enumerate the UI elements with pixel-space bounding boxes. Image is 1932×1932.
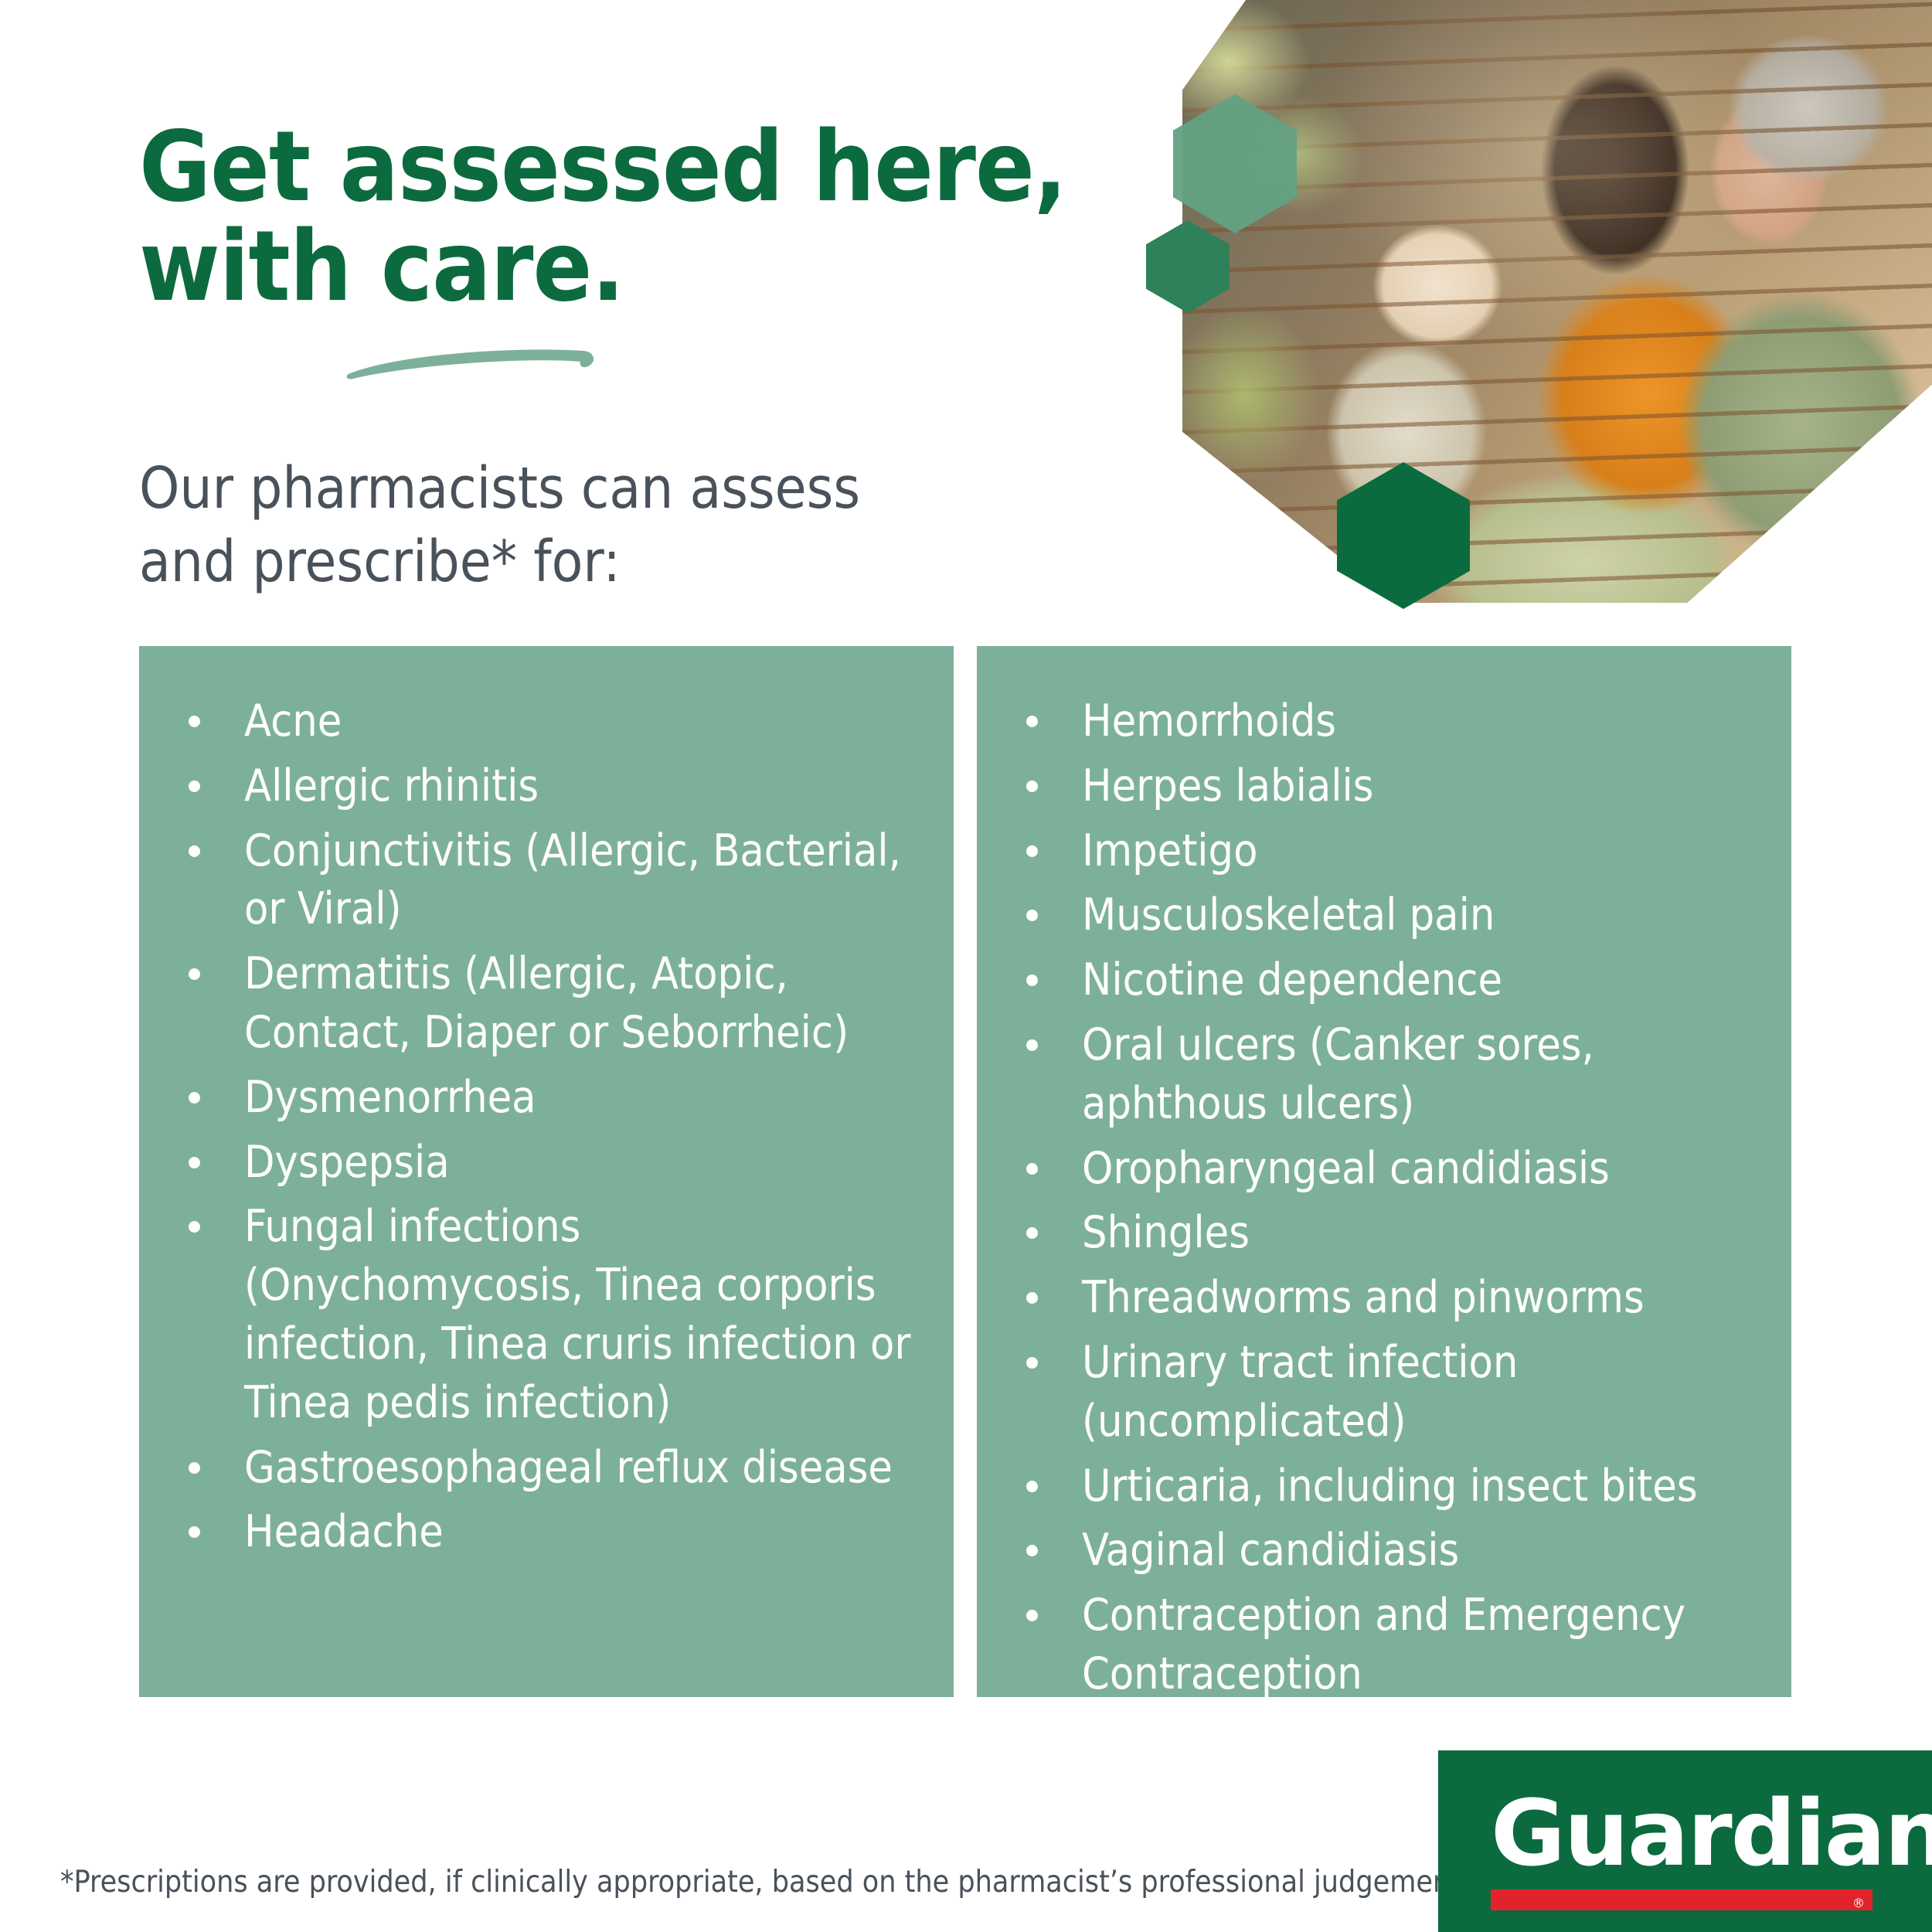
bullet-icon (189, 716, 200, 727)
list-item: Vaginal candidiasis (1015, 1522, 1760, 1580)
list-item: Oropharyngeal candidiasis (1015, 1140, 1760, 1199)
list-item: Shingles (1015, 1204, 1760, 1263)
list-item: Allergic rhinitis (178, 757, 923, 816)
list-item: Conjunctivitis (Allergic, Bacterial, or … (178, 822, 923, 940)
bullet-icon (1026, 1292, 1038, 1304)
condition-label: Urinary tract infection (uncomplicated) (1082, 1337, 1518, 1447)
footnote-text: *Prescriptions are provided, if clinical… (60, 1865, 1469, 1901)
condition-label: Dermatitis (Allergic, Atopic, Contact, D… (244, 948, 849, 1058)
subheading: Our pharmacists can assess and prescribe… (139, 452, 1051, 598)
conditions-list-left: Acne Allergic rhinitis Conjunctivitis (A… (178, 692, 923, 1562)
swoosh-underline-icon (342, 340, 597, 380)
condition-label: Fungal infections (Onychomycosis, Tinea … (244, 1201, 911, 1427)
condition-label: Hemorrhoids (1082, 696, 1336, 747)
hero-image-region (1182, 0, 1932, 603)
list-item: Urinary tract infection (uncomplicated) (1015, 1334, 1760, 1451)
page-title: Get assessed here, with care. (139, 117, 1066, 316)
bullet-icon (1026, 1610, 1038, 1621)
list-item: Musculoskeletal pain (1015, 886, 1760, 945)
bullet-icon (189, 1526, 200, 1538)
list-item: Oral ulcers (Canker sores, aphthous ulce… (1015, 1016, 1760, 1134)
bullet-icon (1026, 1481, 1038, 1492)
condition-label: Acne (244, 696, 342, 747)
list-item: Contraception and Emergency Contraceptio… (1015, 1587, 1760, 1704)
bullet-icon (189, 1157, 200, 1168)
list-item: Dyspepsia (178, 1134, 923, 1192)
condition-label: Impetigo (1082, 825, 1257, 876)
condition-label: Herpes labialis (1082, 760, 1373, 811)
bullet-icon (1026, 910, 1038, 921)
bullet-icon (1026, 1227, 1038, 1239)
bullet-icon (1026, 781, 1038, 792)
photo-light-overlay (1182, 0, 1932, 603)
list-item: Fungal infections (Onychomycosis, Tinea … (178, 1198, 923, 1432)
conditions-panel-left: Acne Allergic rhinitis Conjunctivitis (A… (139, 646, 954, 1697)
list-item: Herpes labialis (1015, 757, 1760, 816)
guardian-logo-red-bar: ® (1491, 1889, 1872, 1910)
subheading-line-2: and prescribe* for: (139, 526, 1051, 599)
poster-canvas: Get assessed here, with care. Our pharma… (0, 0, 1932, 1932)
headline-line-1: Get assessed here, (139, 110, 1066, 223)
condition-label: Conjunctivitis (Allergic, Bacterial, or … (244, 825, 901, 935)
list-item: Hemorrhoids (1015, 692, 1760, 751)
list-item: Threadworms and pinworms (1015, 1269, 1760, 1328)
condition-label: Dysmenorrhea (244, 1072, 536, 1123)
bullet-icon (189, 968, 200, 980)
list-item: Nicotine dependence (1015, 951, 1760, 1010)
bullet-icon (1026, 716, 1038, 727)
bullet-icon (1026, 1039, 1038, 1051)
subheading-line-1: Our pharmacists can assess (139, 455, 860, 522)
condition-label: Threadworms and pinworms (1082, 1272, 1645, 1323)
list-item: Dysmenorrhea (178, 1069, 923, 1128)
list-item: Acne (178, 692, 923, 751)
list-item: Dermatitis (Allergic, Atopic, Contact, D… (178, 945, 923, 1063)
condition-label: Musculoskeletal pain (1082, 889, 1495, 940)
family-photo (1182, 0, 1932, 603)
registered-trademark-icon: ® (1852, 1893, 1865, 1913)
list-item: Urticaria, including insect bites (1015, 1458, 1760, 1516)
bullet-icon (189, 845, 200, 857)
bullet-icon (189, 781, 200, 792)
bullet-icon (1026, 1357, 1038, 1369)
guardian-logo-wordmark: Guardian (1491, 1787, 1932, 1879)
conditions-list-right: Hemorrhoids Herpes labialis Impetigo Mus… (1015, 692, 1760, 1704)
condition-label: Gastroesophageal reflux disease (244, 1442, 893, 1493)
guardian-logo: Guardian ® (1438, 1750, 1932, 1932)
bullet-icon (189, 1221, 200, 1233)
condition-label: Urticaria, including insect bites (1082, 1461, 1698, 1512)
bullet-icon (1026, 975, 1038, 986)
condition-label: Oral ulcers (Canker sores, aphthous ulce… (1082, 1019, 1594, 1129)
condition-label: Allergic rhinitis (244, 760, 539, 811)
bullet-icon (189, 1462, 200, 1474)
condition-label: Vaginal candidiasis (1082, 1525, 1459, 1576)
condition-label: Oropharyngeal candidiasis (1082, 1143, 1610, 1194)
list-item: Headache (178, 1503, 923, 1562)
list-item: Gastroesophageal reflux disease (178, 1439, 923, 1498)
condition-label: Contraception and Emergency Contraceptio… (1082, 1590, 1685, 1699)
bullet-icon (1026, 845, 1038, 857)
bullet-icon (1026, 1545, 1038, 1556)
list-item: Impetigo (1015, 822, 1760, 881)
condition-label: Dyspepsia (244, 1137, 450, 1188)
headline-line-2: with care. (139, 217, 1066, 317)
conditions-panel-right: Hemorrhoids Herpes labialis Impetigo Mus… (977, 646, 1791, 1697)
condition-label: Shingles (1082, 1207, 1250, 1258)
bullet-icon (189, 1092, 200, 1104)
condition-label: Nicotine dependence (1082, 954, 1502, 1005)
condition-label: Headache (244, 1506, 444, 1557)
bullet-icon (1026, 1163, 1038, 1175)
